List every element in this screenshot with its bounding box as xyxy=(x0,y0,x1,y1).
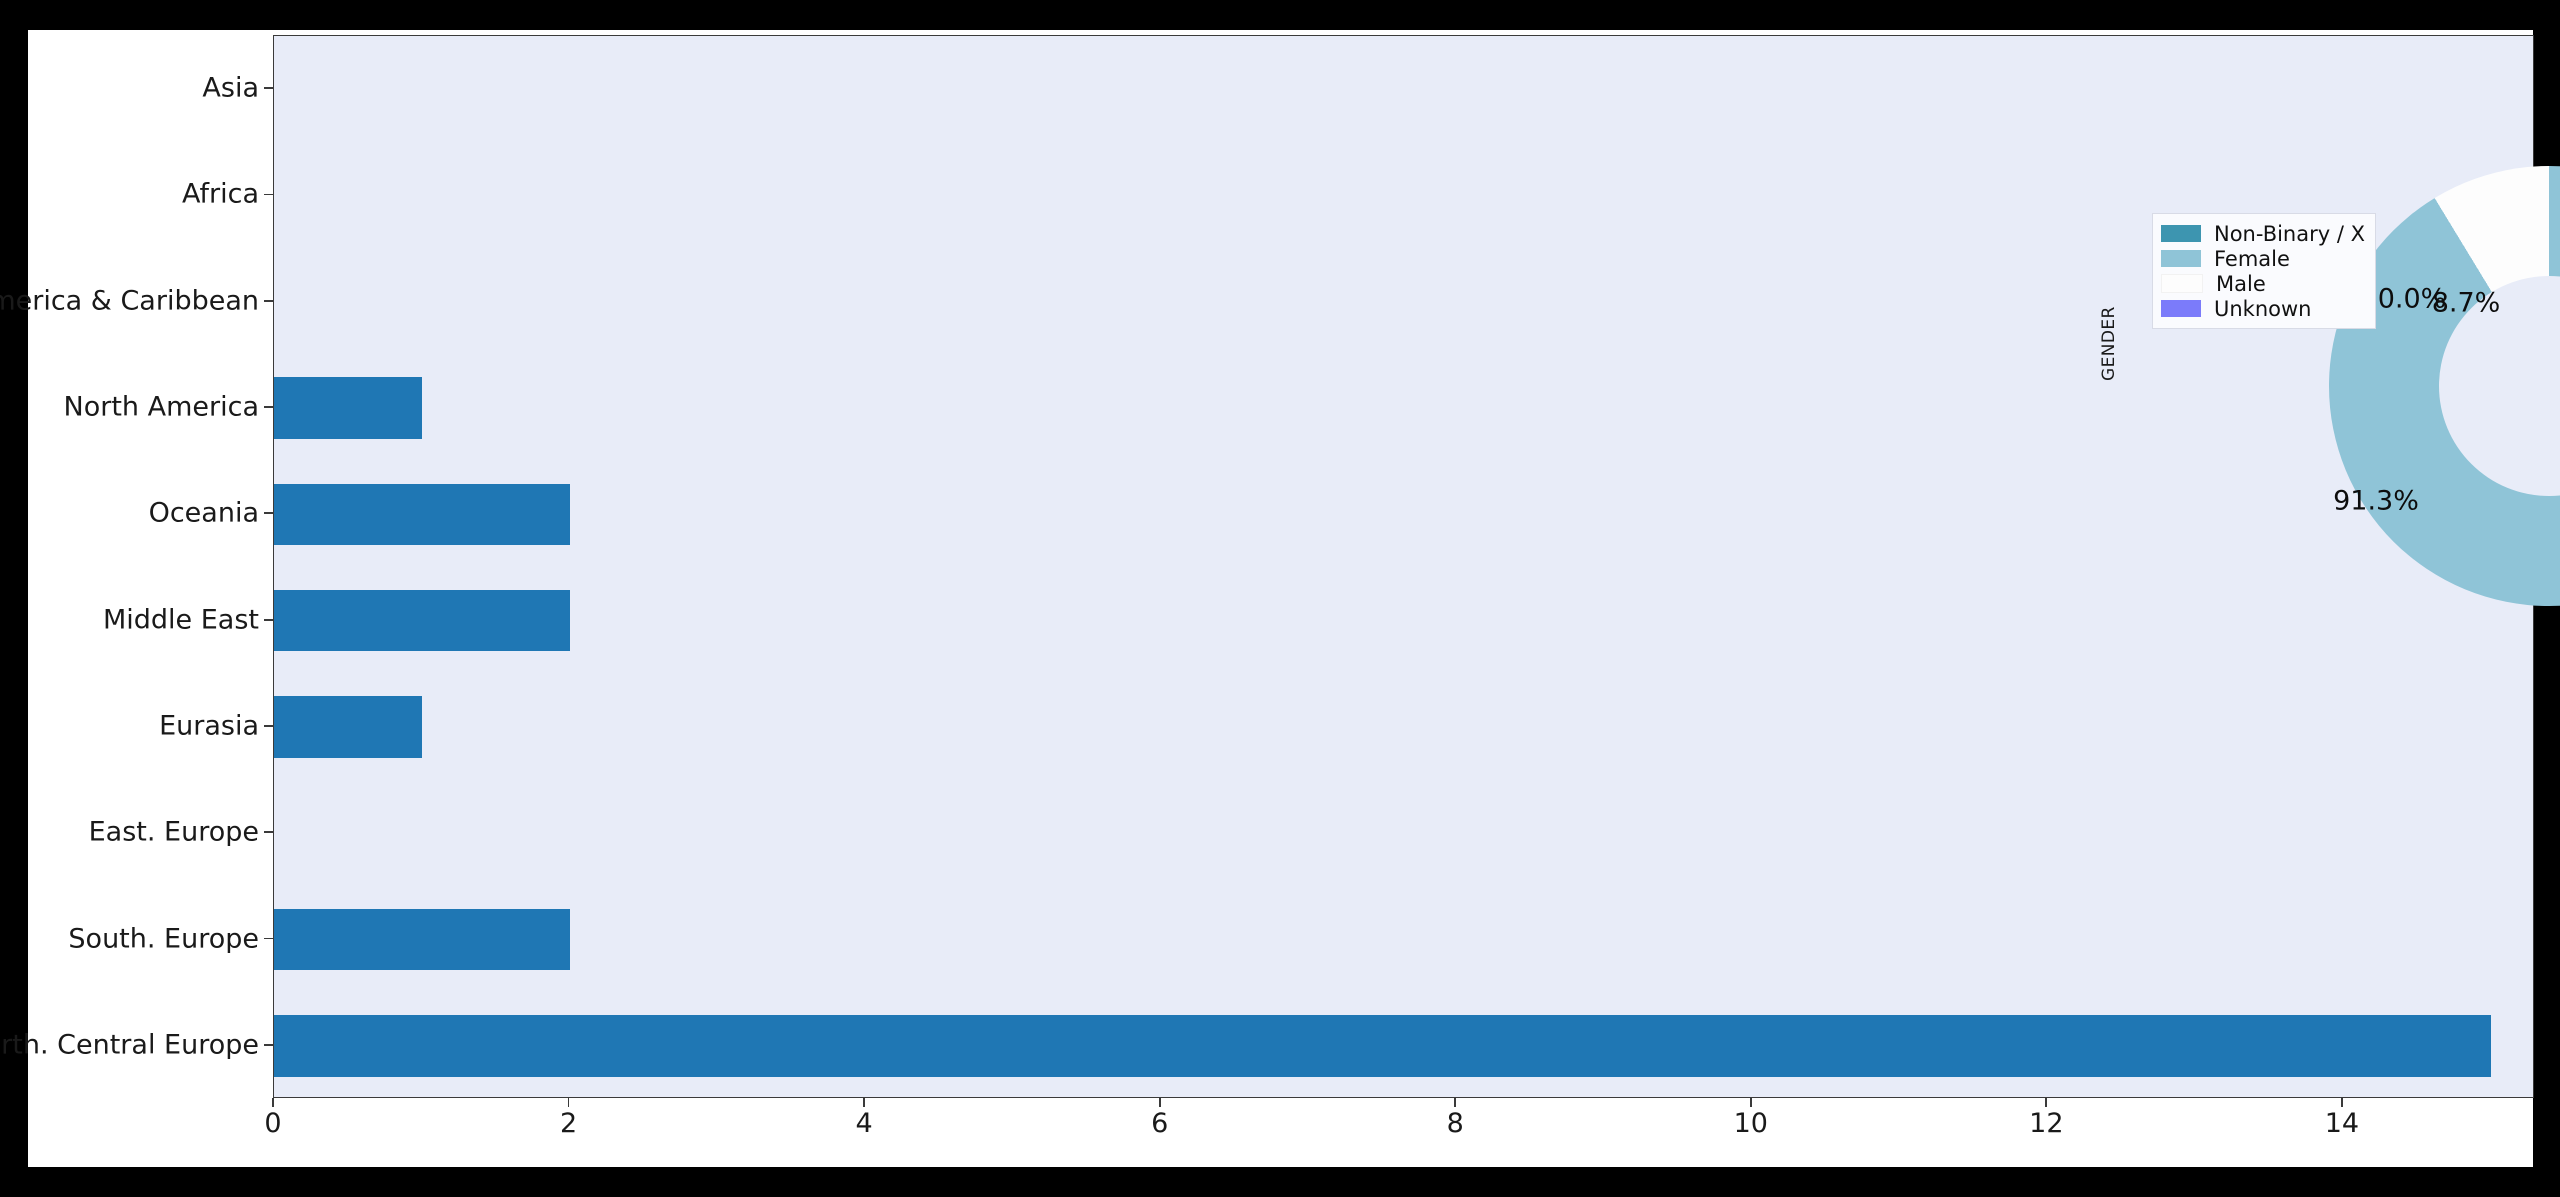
bar-chart-plot-area[interactable]: GENDER 0.0% 8.7% 91.3% Non-Binary / XFem… xyxy=(273,35,2534,1098)
y-tick-label-9: West. North. Central Europe xyxy=(0,1029,259,1060)
x-tick-mark-1 xyxy=(568,1098,570,1107)
x-tick-label-7: 14 xyxy=(2325,1108,2359,1139)
legend-label-3: Unknown xyxy=(2214,297,2311,321)
x-tick-mark-6 xyxy=(2045,1098,2047,1107)
bar-6[interactable] xyxy=(274,696,422,758)
legend-swatch-3 xyxy=(2161,300,2201,317)
legend-item-1[interactable]: Female xyxy=(2161,246,2365,271)
y-tick-mark-0 xyxy=(264,87,273,89)
y-tick-mark-4 xyxy=(264,512,273,514)
y-tick-label-0: Asia xyxy=(202,73,259,104)
y-tick-label-3: North America xyxy=(64,392,259,423)
y-tick-label-7: East. Europe xyxy=(89,817,259,848)
x-tick-mark-4 xyxy=(1454,1098,1456,1107)
y-tick-label-2: South America & Caribbean xyxy=(0,285,259,316)
y-tick-label-5: Middle East xyxy=(103,604,259,635)
y-tick-mark-7 xyxy=(264,831,273,833)
x-tick-label-3: 6 xyxy=(1151,1108,1168,1139)
bar-9[interactable] xyxy=(274,1015,2491,1077)
y-tick-mark-8 xyxy=(264,938,273,940)
legend-item-2[interactable]: Male xyxy=(2161,271,2365,296)
x-tick-mark-7 xyxy=(2341,1098,2343,1107)
bar-4[interactable] xyxy=(274,484,570,546)
x-tick-mark-5 xyxy=(1750,1098,1752,1107)
donut-axis-title: GENDER xyxy=(2099,306,2119,381)
legend-label-0: Non-Binary / X xyxy=(2214,222,2365,246)
gender-legend[interactable]: Non-Binary / XFemaleMaleUnknown xyxy=(2152,213,2376,329)
donut-label-male: 8.7% xyxy=(2432,288,2501,319)
legend-label-1: Female xyxy=(2214,247,2290,271)
y-tick-mark-9 xyxy=(264,1044,273,1046)
bar-5[interactable] xyxy=(274,590,570,652)
bar-8[interactable] xyxy=(274,909,570,971)
y-tick-mark-3 xyxy=(264,406,273,408)
y-tick-mark-1 xyxy=(264,194,273,196)
y-tick-label-1: Africa xyxy=(182,179,259,210)
y-tick-label-4: Oceania xyxy=(149,498,259,529)
donut-label-female: 91.3% xyxy=(2333,486,2419,517)
x-tick-label-5: 10 xyxy=(1734,1108,1768,1139)
x-tick-label-0: 0 xyxy=(264,1108,281,1139)
x-tick-label-2: 4 xyxy=(856,1108,873,1139)
x-tick-mark-3 xyxy=(1159,1098,1161,1107)
legend-swatch-2 xyxy=(2161,274,2203,293)
y-tick-mark-2 xyxy=(264,300,273,302)
x-tick-label-6: 12 xyxy=(2029,1108,2063,1139)
y-tick-mark-6 xyxy=(264,725,273,727)
x-tick-mark-2 xyxy=(863,1098,865,1107)
y-tick-label-6: Eurasia xyxy=(159,710,259,741)
y-tick-label-8: South. Europe xyxy=(68,923,259,954)
y-tick-mark-5 xyxy=(264,619,273,621)
bar-3[interactable] xyxy=(274,377,422,439)
legend-item-0[interactable]: Non-Binary / X xyxy=(2161,221,2365,246)
x-tick-label-4: 8 xyxy=(1447,1108,1464,1139)
legend-item-3[interactable]: Unknown xyxy=(2161,296,2365,321)
figure-canvas: AsiaAfricaSouth America & CaribbeanNorth… xyxy=(28,30,2533,1167)
legend-swatch-1 xyxy=(2161,250,2201,267)
x-tick-mark-0 xyxy=(272,1098,274,1107)
x-tick-label-1: 2 xyxy=(560,1108,577,1139)
legend-swatch-0 xyxy=(2161,225,2201,242)
legend-label-2: Male xyxy=(2216,272,2266,296)
